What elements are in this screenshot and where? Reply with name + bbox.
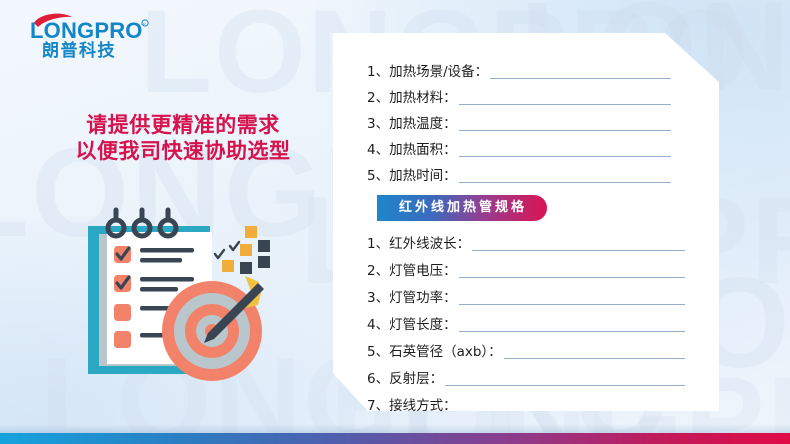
fill-in-line[interactable] — [459, 130, 671, 131]
list-item-label: 加热场景/设备： — [389, 62, 488, 82]
page-title: 请提供更精准的需求 以便我司快速协助选型 — [48, 112, 318, 164]
list-item-number: 1、 — [367, 62, 389, 82]
fill-in-line[interactable] — [445, 385, 685, 386]
list-item-number: 3、 — [367, 288, 389, 308]
list-item-number: 5、 — [367, 342, 389, 362]
squares-cluster — [215, 226, 270, 274]
list-item-label: 接线方式： — [389, 396, 457, 416]
list-item[interactable]: 2、 加热材料： — [367, 85, 719, 108]
list-item-number: 2、 — [367, 261, 389, 281]
svg-text:朗普科技: 朗普科技 — [42, 40, 116, 60]
fill-in-line[interactable] — [459, 182, 671, 183]
list-item-number: 4、 — [367, 140, 389, 160]
list-item-number: 4、 — [367, 315, 389, 335]
list-item[interactable]: 1、 红外线波长： — [367, 231, 719, 254]
list-item[interactable]: 3、 灯管功率： — [367, 285, 719, 308]
form-card: 1、 加热场景/设备： 2、 加热材料： 3、 加热温度： 4、 加热面积： — [333, 33, 719, 411]
list-item-label: 加热时间： — [389, 166, 457, 186]
list-item-label: 红外线波长： — [389, 234, 470, 254]
fill-in-line[interactable] — [459, 104, 671, 105]
list-item[interactable]: 4、 灯管长度： — [367, 312, 719, 335]
fill-in-line[interactable] — [459, 277, 685, 278]
svg-text:LONGPRO: LONGPRO — [30, 18, 143, 43]
fill-in-line[interactable] — [490, 78, 671, 79]
fill-in-line[interactable] — [504, 358, 685, 359]
list-item[interactable]: 5、 石英管径（axb）： — [367, 339, 719, 362]
section-banner: 红外线加热管规格 — [377, 195, 547, 221]
list-item-label: 加热材料： — [389, 88, 457, 108]
list-item[interactable]: 1、 加热场景/设备： — [367, 59, 719, 82]
list-item-label: 石英管径（axb）： — [389, 342, 502, 362]
fill-in-line[interactable] — [459, 412, 685, 413]
list-item-label: 加热温度： — [389, 114, 457, 134]
fill-in-line[interactable] — [459, 304, 685, 305]
list-item[interactable]: 7、 接线方式： — [367, 393, 719, 416]
svg-text:R: R — [143, 22, 146, 27]
fill-in-line[interactable] — [459, 331, 685, 332]
headline-line-1: 请提供更精准的需求 — [48, 112, 318, 138]
list-item-label: 灯管长度： — [389, 315, 457, 335]
list-item[interactable]: 5、 加热时间： — [367, 163, 719, 186]
fill-in-line[interactable] — [459, 156, 671, 157]
heating-requirements-list: 1、 加热场景/设备： 2、 加热材料： 3、 加热温度： 4、 加热面积： — [367, 59, 719, 186]
tube-spec-list: 1、 红外线波长： 2、 灯管电压： 3、 灯管功率： 4、 灯管长度： — [367, 231, 719, 443]
list-item-label: 反射层： — [389, 369, 443, 389]
list-item-label: 加热面积： — [389, 140, 457, 160]
bottom-bar-shadow — [0, 424, 790, 433]
list-item-label: 灯管功率： — [389, 288, 457, 308]
list-item[interactable]: 4、 加热面积： — [367, 137, 719, 160]
list-item-number: 7、 — [367, 396, 389, 416]
list-item[interactable]: 2、 灯管电压： — [367, 258, 719, 281]
fill-in-line[interactable] — [472, 250, 685, 251]
list-item-number: 1、 — [367, 234, 389, 254]
slide-root: LONGPRO LONGPRO LONGPRO LONGPRO LONGPRO … — [0, 0, 790, 444]
checklist-target-illustration — [72, 196, 332, 418]
list-item[interactable]: 3、 加热温度： — [367, 111, 719, 134]
company-logo: LONGPRO R 朗普科技 — [18, 8, 158, 60]
list-item-number: 3、 — [367, 114, 389, 134]
list-item-number: 6、 — [367, 369, 389, 389]
list-item-number: 2、 — [367, 88, 389, 108]
headline-line-2: 以便我司快速协助选型 — [48, 138, 318, 164]
section-banner-wrap: 红外线加热管规格 — [377, 195, 719, 221]
bottom-accent-bar — [0, 433, 790, 444]
list-item[interactable]: 6、 反射层： — [367, 366, 719, 389]
list-item-label: 灯管电压： — [389, 261, 457, 281]
list-item-number: 5、 — [367, 166, 389, 186]
